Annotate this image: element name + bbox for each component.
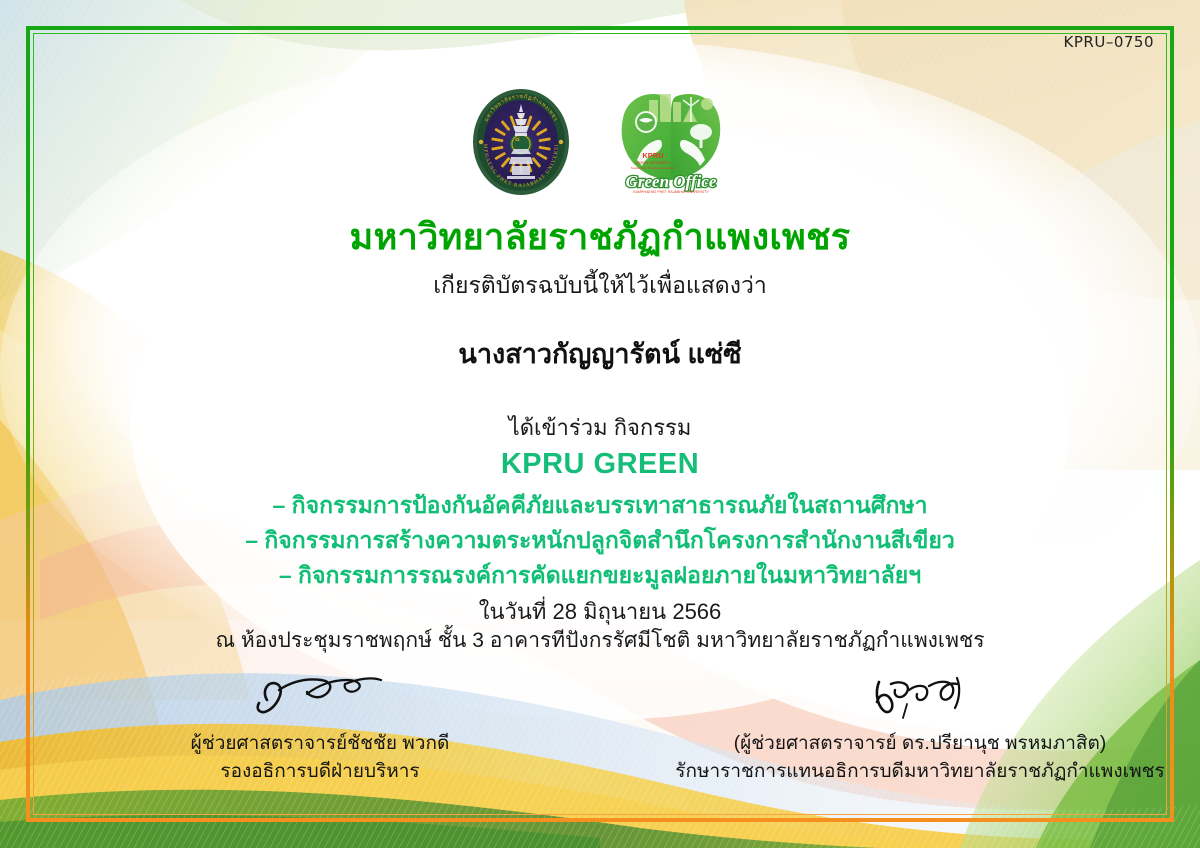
svg-text:KAMPHAENG PHET RAJABHAT UNIVER: KAMPHAENG PHET RAJABHAT UNIVERSITY (633, 190, 709, 194)
organization-name: มหาวิทยาลัยราชภัฏกำแพงเพชร (0, 208, 1200, 265)
signature-mark-left (40, 668, 600, 730)
logo-row: มหาวิทยาลัยราชภัฏกำแพงเพชร KAMPHAENG PHE… (0, 88, 1200, 196)
signatory-name: (ผู้ช่วยศาสตราจารย์ ดร.ปรียานุช พรหมภาสิ… (640, 730, 1200, 758)
program-name: KPRU GREEN (0, 448, 1200, 481)
participation-label: ได้เข้าร่วม กิจกรรม (0, 410, 1200, 445)
kpru-university-seal-icon: มหาวิทยาลัยราชภัฏกำแพงเพชร KAMPHAENG PHE… (471, 88, 571, 196)
certificate-page: KPRU–0750 มหาวิทยาลัยราชภัฏก (0, 0, 1200, 848)
signature-row: ผู้ช่วยศาสตราจารย์ชัชชัย พวกดี รองอธิการ… (0, 668, 1200, 786)
handwritten-signature-icon (845, 670, 995, 728)
certificate-subtitle: เกียรติบัตรฉบับนี้ให้ไว้เพื่อแสดงว่า (0, 268, 1200, 304)
signatory-title: รองอธิการบดีฝ่ายบริหาร (40, 758, 600, 786)
green-office-logo-icon: KPRU GREEN UNIVERSITY Sustainable Thaila… (613, 88, 729, 196)
event-venue: ณ ห้องประชุมราชพฤกษ์ ชั้น 3 อาคารทีปังกร… (0, 624, 1200, 657)
handwritten-signature-icon (235, 670, 405, 728)
activity-list: – กิจกรรมการป้องกันอัคคีภัยและบรรเทาสาธา… (0, 488, 1200, 593)
signatory-title: รักษาราชการแทนอธิการบดีมหาวิทยาลัยราชภัฏ… (640, 758, 1200, 786)
signatory-name: ผู้ช่วยศาสตราจารย์ชัชชัย พวกดี (40, 730, 600, 758)
activity-item: – กิจกรรมการรณรงค์การคัดแยกขยะมูลฝอยภายใ… (0, 558, 1200, 593)
svg-text:KPRU: KPRU (642, 151, 663, 160)
signature-block-left: ผู้ช่วยศาสตราจารย์ชัชชัย พวกดี รองอธิการ… (0, 668, 600, 786)
activity-item: – กิจกรรมการสร้างความตระหนักปลูกจิตสำนึก… (0, 523, 1200, 558)
svg-text:Sustainable Thailand Associati: Sustainable Thailand Association (631, 166, 675, 170)
activity-item: – กิจกรรมการป้องกันอัคคีภัยและบรรเทาสาธา… (0, 488, 1200, 523)
signature-block-right: (ผู้ช่วยศาสตราจารย์ ดร.ปรียานุช พรหมภาสิ… (600, 668, 1200, 786)
certificate-content: มหาวิทยาลัยราชภัฏกำแพงเพชร KAMPHAENG PHE… (0, 0, 1200, 848)
svg-text:Green Office: Green Office (626, 172, 717, 191)
recipient-name: นางสาวกัญญารัตน์ แซ่ซี (0, 332, 1200, 375)
svg-text:GREEN UNIVERSITY: GREEN UNIVERSITY (635, 161, 671, 165)
signature-mark-right (640, 668, 1200, 730)
